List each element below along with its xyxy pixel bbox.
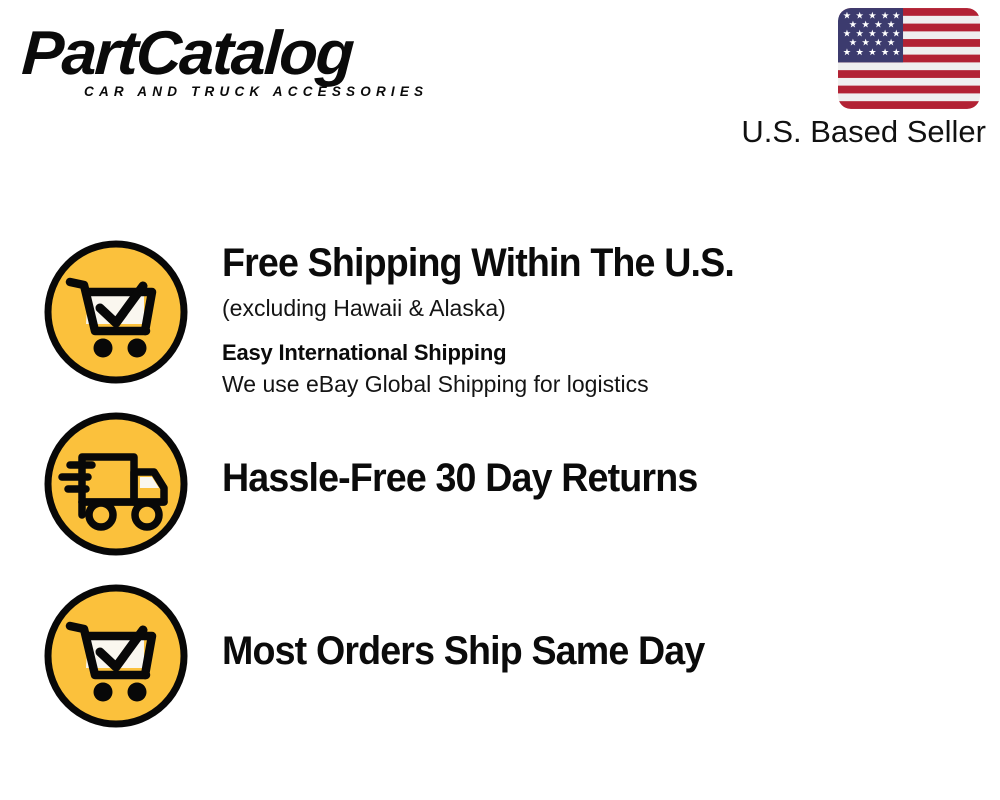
us-based-seller-badge: U.S. Based Seller — [718, 8, 988, 150]
seller-label: U.S. Based Seller — [718, 114, 986, 150]
feature-subtitle-strong: Easy International Shipping — [222, 338, 1000, 368]
feature-row-same-day: Most Orders Ship Same Day — [0, 582, 1000, 742]
feature-text-returns: Hassle-Free 30 Day Returns — [190, 410, 1000, 501]
feature-note: (excluding Hawaii & Alaska) — [222, 292, 1000, 324]
feature-list: Free Shipping Within The U.S. (excluding… — [0, 238, 1000, 742]
feature-row-returns: Hassle-Free 30 Day Returns — [0, 410, 1000, 582]
feature-title: Free Shipping Within The U.S. — [222, 240, 953, 286]
cart-check-icon — [42, 238, 190, 386]
feature-title: Most Orders Ship Same Day — [222, 628, 953, 674]
feature-text-same-day: Most Orders Ship Same Day — [190, 582, 1000, 674]
promo-banner: PartCatalog CAR AND TRUCK ACCESSORIES — [0, 0, 1000, 800]
feature-text-free-shipping: Free Shipping Within The U.S. (excluding… — [190, 238, 1000, 400]
delivery-truck-icon — [42, 410, 190, 558]
cart-check-icon — [42, 582, 190, 730]
feature-subtitle: We use eBay Global Shipping for logistic… — [222, 368, 1000, 400]
us-flag-icon — [838, 8, 980, 109]
feature-title: Hassle-Free 30 Day Returns — [222, 455, 953, 501]
logo-wordmark: PartCatalog — [20, 22, 503, 86]
feature-row-free-shipping: Free Shipping Within The U.S. (excluding… — [0, 238, 1000, 410]
brand-logo[interactable]: PartCatalog CAR AND TRUCK ACCESSORIES — [22, 22, 492, 112]
